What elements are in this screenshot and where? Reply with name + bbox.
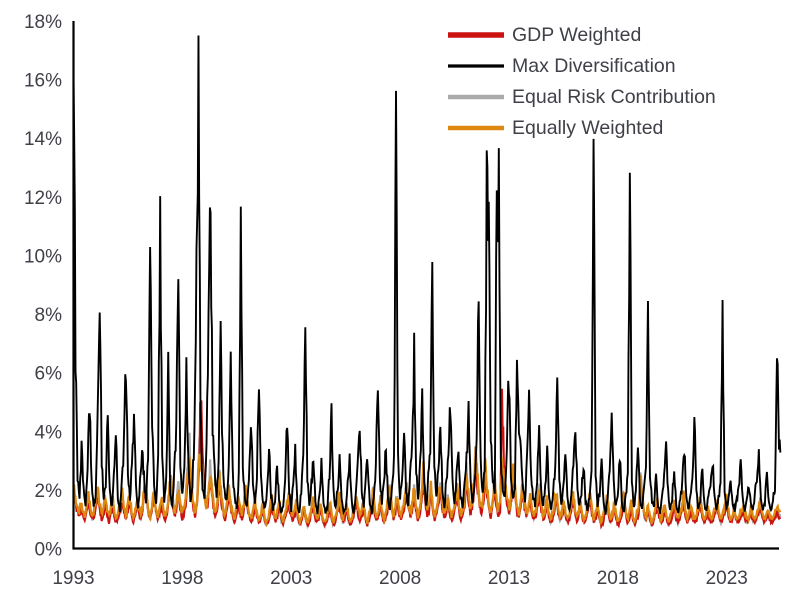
x-tick-label: 1998 (161, 568, 203, 589)
y-tick-label: 0% (35, 540, 63, 561)
chart-container: 0%2%4%6%8%10%12%14%16%18% 19931998200320… (0, 0, 787, 603)
legend-label: GDP Weighted (512, 24, 641, 46)
y-tick-label: 2% (35, 481, 63, 502)
legend-label: Equal Risk Contribution (512, 86, 716, 108)
y-tick-label: 18% (24, 12, 62, 33)
x-tick-label: 1993 (52, 568, 94, 589)
y-tick-label: 16% (24, 71, 62, 92)
x-tick-label: 2013 (488, 568, 530, 589)
x-tick-label: 2008 (379, 568, 421, 589)
x-tick-label: 2018 (597, 568, 639, 589)
x-tick-label: 2003 (270, 568, 312, 589)
y-tick-label: 12% (24, 188, 62, 209)
legend-label: Equally Weighted (512, 117, 663, 139)
y-tick-label: 10% (24, 246, 62, 267)
legend-label: Max Diversification (512, 55, 676, 77)
x-tick-label: 2023 (706, 568, 748, 589)
y-tick-label: 14% (24, 129, 62, 150)
y-tick-label: 8% (35, 305, 63, 326)
timeseries-chart: 0%2%4%6%8%10%12%14%16%18% 19931998200320… (0, 0, 787, 603)
y-tick-label: 4% (35, 422, 63, 443)
y-tick-label: 6% (35, 364, 63, 385)
